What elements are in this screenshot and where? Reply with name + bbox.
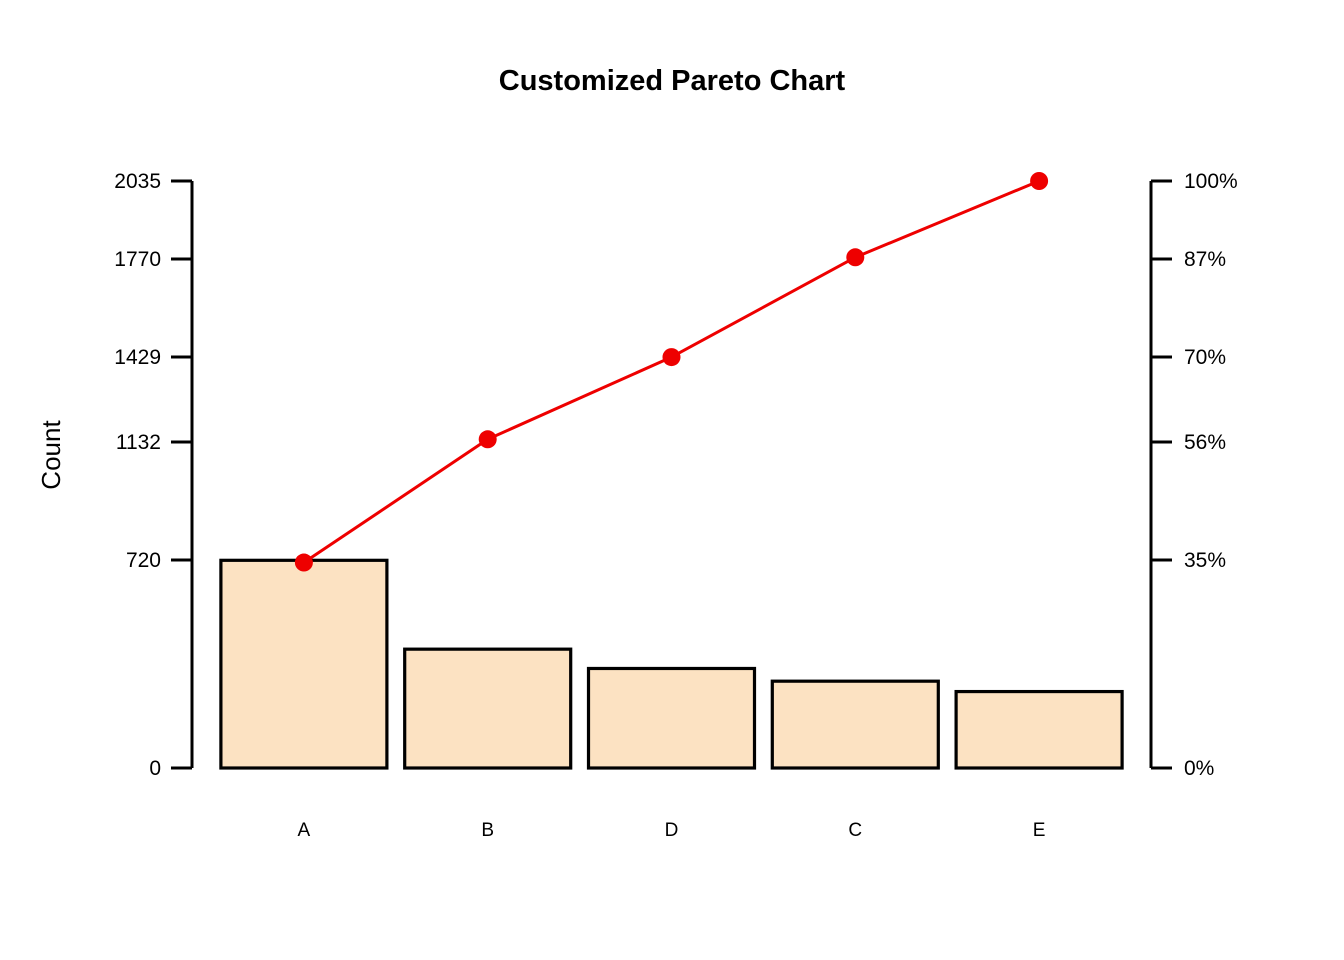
left-tick-label-1770: 1770	[114, 248, 161, 271]
right-tick-label-0pct: 0%	[1184, 757, 1214, 780]
right-tick-label-70pct: 70%	[1184, 346, 1226, 369]
y-axis-title: Count	[36, 420, 66, 490]
category-label-a: A	[298, 820, 311, 841]
cumulative-point-e[interactable]	[1030, 172, 1048, 190]
category-label-d: D	[665, 820, 679, 841]
chart-background	[0, 0, 1344, 960]
right-tick-label-87pct: 87%	[1184, 248, 1226, 271]
cumulative-point-c[interactable]	[846, 248, 864, 266]
bar-b[interactable]	[405, 649, 571, 768]
category-label-b: B	[481, 820, 494, 841]
chart-canvas: Customized Pareto Chart 2035 1770 1429 1…	[0, 0, 1344, 960]
bar-d[interactable]	[589, 668, 755, 768]
chart-title: Customized Pareto Chart	[499, 65, 846, 97]
category-label-c: C	[848, 820, 862, 841]
left-tick-label-0: 0	[149, 757, 161, 780]
cumulative-point-a[interactable]	[295, 554, 313, 572]
pareto-chart: Customized Pareto Chart 2035 1770 1429 1…	[0, 0, 1344, 960]
bar-e[interactable]	[956, 692, 1122, 768]
cumulative-point-d[interactable]	[663, 348, 681, 366]
right-tick-label-35pct: 35%	[1184, 549, 1226, 572]
bar-c[interactable]	[772, 681, 938, 768]
left-tick-label-2035: 2035	[114, 170, 161, 193]
left-tick-label-1132: 1132	[116, 431, 161, 454]
category-label-e: E	[1033, 820, 1046, 841]
right-tick-label-56pct: 56%	[1184, 431, 1226, 454]
cumulative-point-b[interactable]	[479, 430, 497, 448]
right-tick-label-100pct: 100%	[1184, 170, 1238, 193]
left-tick-label-1429: 1429	[114, 346, 161, 369]
bar-a[interactable]	[221, 560, 387, 768]
left-tick-label-720: 720	[126, 549, 161, 572]
